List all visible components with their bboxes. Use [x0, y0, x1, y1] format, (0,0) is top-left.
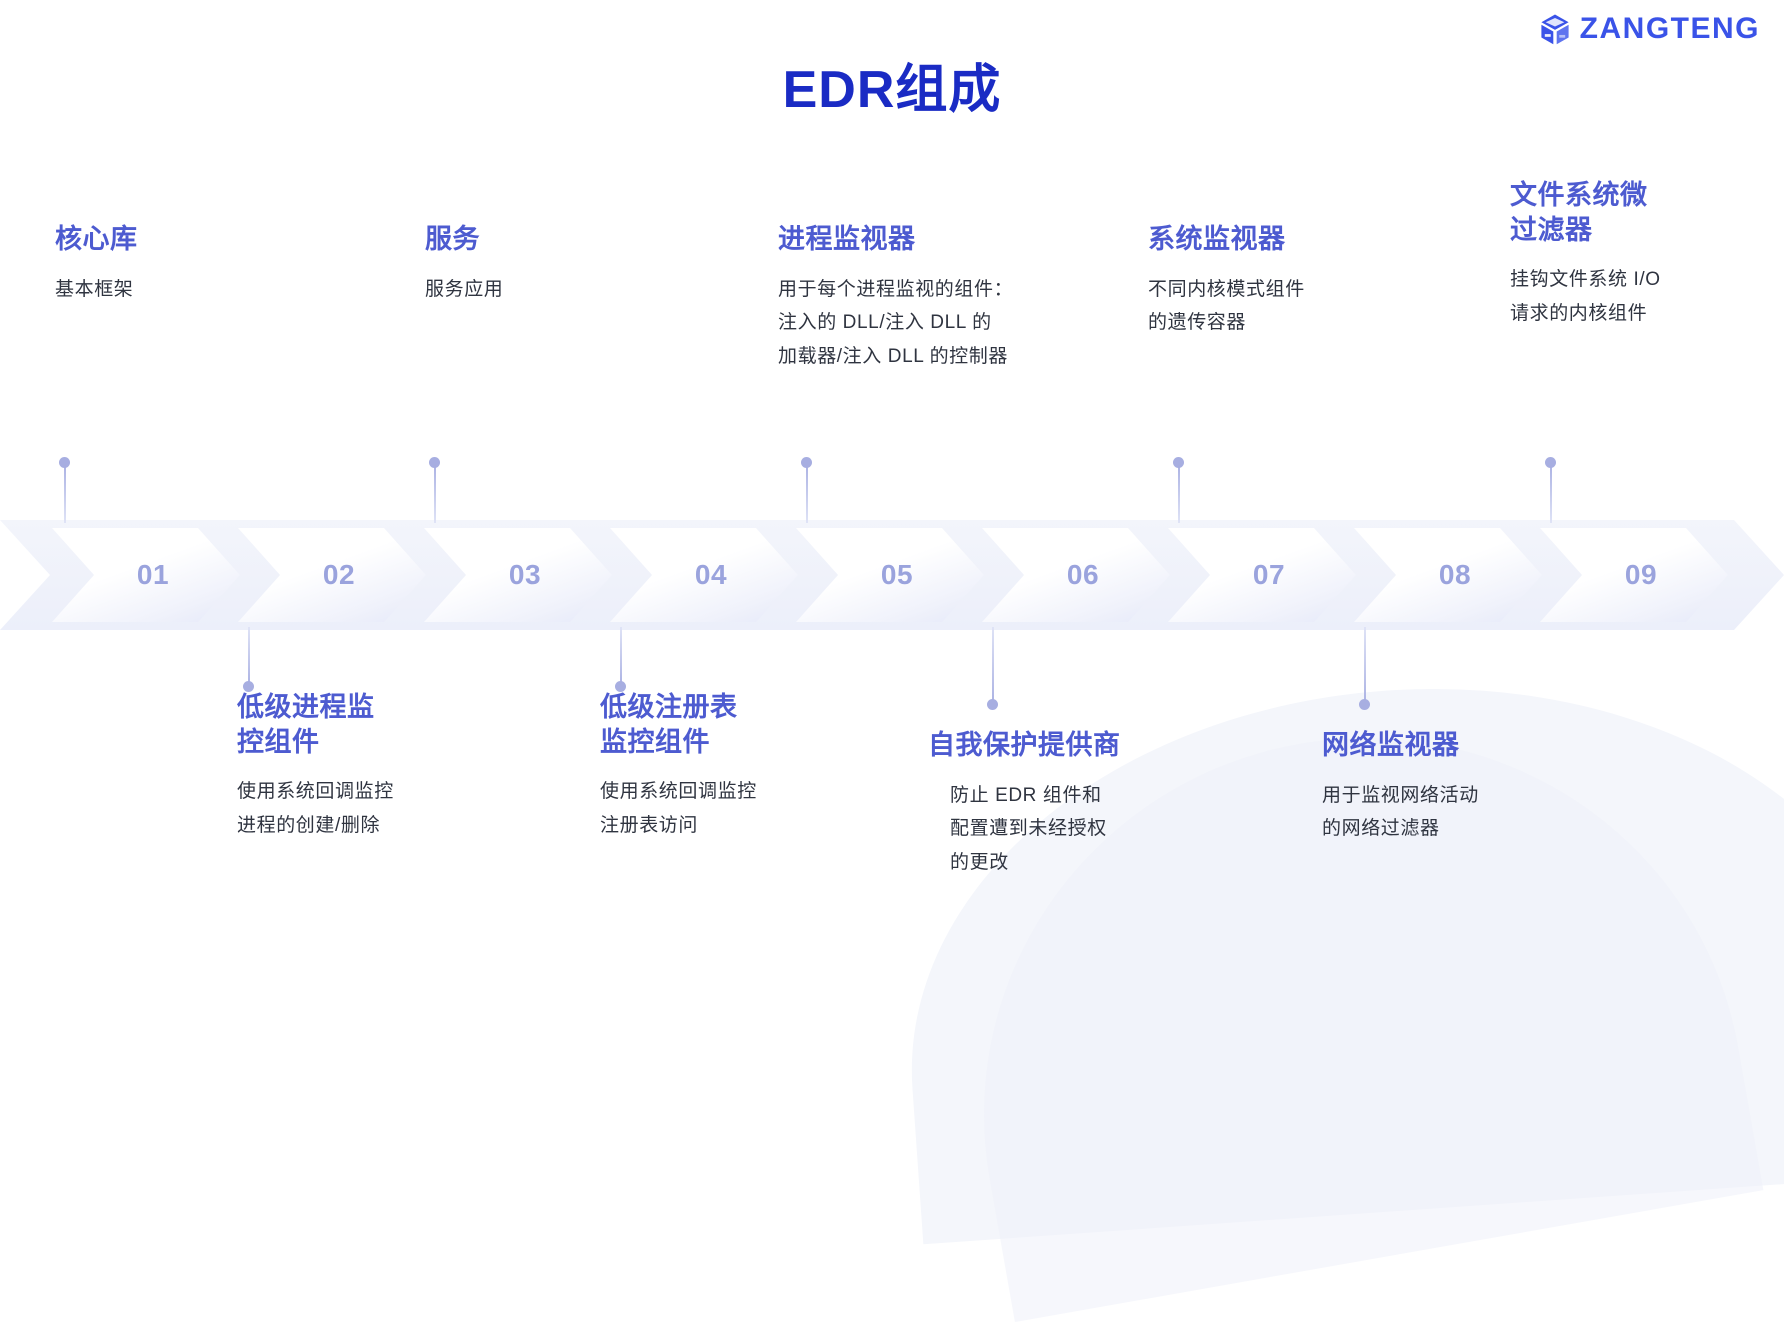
timeline-item-08: 网络监视器 用于监视网络活动 的网络过滤器 [1322, 728, 1642, 846]
connector-stem-09 [1550, 463, 1552, 523]
connector-dot-09 [1545, 457, 1556, 468]
timeline-item-01: 核心库 基本框架 [55, 222, 355, 306]
timeline-diagram: 01 02 03 04 05 06 07 08 09 核心库 基本框架 服务 服… [0, 0, 1784, 960]
page-title: EDR组成 [0, 47, 1784, 122]
connector-dot-06 [987, 699, 998, 710]
chevron-band: 01 02 03 04 05 06 07 08 09 [0, 520, 1784, 630]
brand-logo: ZANGTENG [1538, 12, 1760, 46]
item-body: 服务应用 [425, 273, 725, 307]
step-number: 07 [1239, 559, 1285, 591]
connector-dot-05 [801, 457, 812, 468]
step-number: 05 [867, 559, 913, 591]
item-body: 使用系统回调监控 进程的创建/删除 [237, 775, 517, 843]
item-title: 核心库 [55, 222, 355, 257]
item-title: 自我保护提供商 [928, 728, 1248, 763]
item-title: 系统监视器 [1148, 222, 1448, 257]
step-number: 03 [495, 559, 541, 591]
connector-stem-03 [434, 463, 436, 523]
item-title: 网络监视器 [1322, 728, 1642, 763]
connector-dot-07 [1173, 457, 1184, 468]
connector-stem-07 [1178, 463, 1180, 523]
item-body: 不同内核模式组件 的遗传容器 [1148, 273, 1448, 341]
timeline-item-03: 服务 服务应用 [425, 222, 725, 306]
connector-stem-05 [806, 463, 808, 523]
connector-stem-02 [248, 627, 250, 687]
step-number: 06 [1053, 559, 1099, 591]
item-title: 低级注册表 监控组件 [600, 690, 880, 759]
timeline-item-02: 低级进程监 控组件 使用系统回调监控 进程的创建/删除 [237, 690, 517, 843]
connector-stem-01 [64, 463, 66, 523]
cube-icon [1538, 12, 1572, 46]
timeline-item-09: 文件系统微 过滤器 挂钩文件系统 I/O 请求的内核组件 [1510, 178, 1784, 331]
step-number: 09 [1611, 559, 1657, 591]
connector-dot-01 [59, 457, 70, 468]
step-number: 04 [681, 559, 727, 591]
connector-stem-06 [992, 627, 994, 705]
item-title: 文件系统微 过滤器 [1510, 178, 1784, 247]
item-body: 使用系统回调监控 注册表访问 [600, 775, 880, 843]
item-body: 防止 EDR 组件和 配置遭到未经授权 的更改 [928, 779, 1248, 880]
timeline-item-04: 低级注册表 监控组件 使用系统回调监控 注册表访问 [600, 690, 880, 843]
item-body: 用于每个进程监视的组件： 注入的 DLL/注入 DLL 的 加载器/注入 DLL… [778, 273, 1138, 374]
item-body: 基本框架 [55, 273, 355, 307]
timeline-item-05: 进程监视器 用于每个进程监视的组件： 注入的 DLL/注入 DLL 的 加载器/… [778, 222, 1138, 374]
connector-stem-04 [620, 627, 622, 687]
brand-name: ZANGTENG [1580, 12, 1760, 46]
item-body: 挂钩文件系统 I/O 请求的内核组件 [1510, 263, 1784, 331]
item-title: 服务 [425, 222, 725, 257]
item-title: 低级进程监 控组件 [237, 690, 517, 759]
item-body: 用于监视网络活动 的网络过滤器 [1322, 779, 1642, 847]
step-number: 02 [309, 559, 355, 591]
connector-dot-03 [429, 457, 440, 468]
connector-dot-08 [1359, 699, 1370, 710]
step-number: 08 [1425, 559, 1471, 591]
item-title: 进程监视器 [778, 222, 1138, 257]
step-number: 01 [123, 559, 169, 591]
connector-stem-08 [1364, 627, 1366, 705]
timeline-item-06: 自我保护提供商 防止 EDR 组件和 配置遭到未经授权 的更改 [928, 728, 1248, 880]
timeline-item-07: 系统监视器 不同内核模式组件 的遗传容器 [1148, 222, 1448, 340]
